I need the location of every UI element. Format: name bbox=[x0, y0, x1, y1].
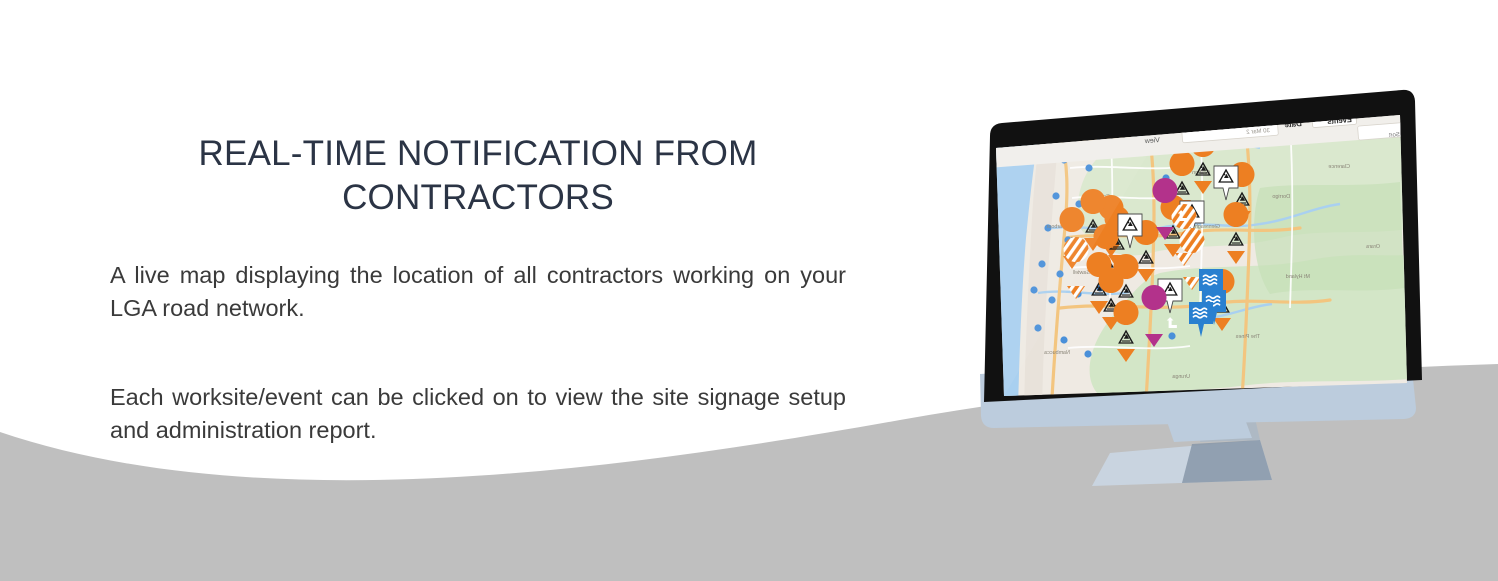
slide-canvas: REAL-TIME NOTIFICATION FROM CONTRACTORS … bbox=[0, 0, 1498, 581]
svg-text:Orara: Orara bbox=[1366, 244, 1380, 250]
svg-text:Clarence: Clarence bbox=[1328, 164, 1350, 170]
sort-label[interactable]: Sort bbox=[1388, 132, 1400, 139]
monitor-screen: Maclean Grafton Coramba Coffs Harbour Sa… bbox=[980, 98, 1420, 418]
svg-text:Glenreagh: Glenreagh bbox=[1195, 224, 1220, 230]
page-title: REAL-TIME NOTIFICATION FROM CONTRACTORS bbox=[110, 132, 846, 221]
svg-text:Mt Hyland: Mt Hyland bbox=[1286, 274, 1310, 280]
desktop-monitor-mockup: Maclean Grafton Coramba Coffs Harbour Sa… bbox=[960, 78, 1430, 508]
svg-text:Nambucca: Nambucca bbox=[1044, 350, 1070, 356]
svg-text:The Pines: The Pines bbox=[1235, 334, 1260, 340]
description-paragraph-2: Each worksite/event can be clicked on to… bbox=[110, 381, 846, 448]
svg-text:Dorrigo: Dorrigo bbox=[1272, 194, 1290, 200]
description-paragraph-1: A live map displaying the location of al… bbox=[110, 259, 846, 326]
svg-text:Urunga: Urunga bbox=[1172, 374, 1190, 380]
text-column: REAL-TIME NOTIFICATION FROM CONTRACTORS … bbox=[110, 132, 846, 447]
